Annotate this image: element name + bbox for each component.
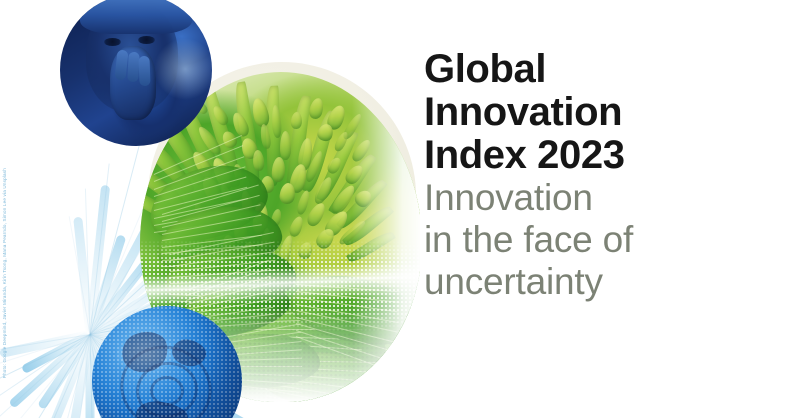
circular-portrait-photo <box>60 0 212 146</box>
portrait-eye-right <box>138 36 155 44</box>
title-line-2: Innovation <box>424 90 622 134</box>
page-subtitle: Innovation in the face of uncertainty <box>424 177 784 303</box>
subtitle-line-1: Innovation <box>424 177 784 219</box>
cover-canvas: Photo: Google Deepmind, Javier Miranda, … <box>0 0 800 418</box>
subtitle-line-2: in the face of <box>424 219 784 261</box>
portrait-background-glow <box>154 38 212 100</box>
subtitle-line-3: uncertainty <box>424 261 784 303</box>
cover-artwork <box>0 0 420 418</box>
portrait-eye-left <box>104 38 121 46</box>
title-block: Global Innovation Index 2023 Innovation … <box>424 48 784 303</box>
page-title: Global Innovation Index 2023 <box>424 48 784 177</box>
seed-pod-13 <box>280 131 291 160</box>
title-line-3: Index 2023 <box>424 133 625 177</box>
portrait-headscarf <box>80 0 192 34</box>
title-line-1: Global <box>424 47 546 91</box>
blue-globe-sphere <box>92 306 242 418</box>
photo-credit: Photo: Google Deepmind, Javier Miranda, … <box>2 168 7 378</box>
portrait-finger-3 <box>138 56 150 86</box>
right-fade <box>352 72 420 402</box>
